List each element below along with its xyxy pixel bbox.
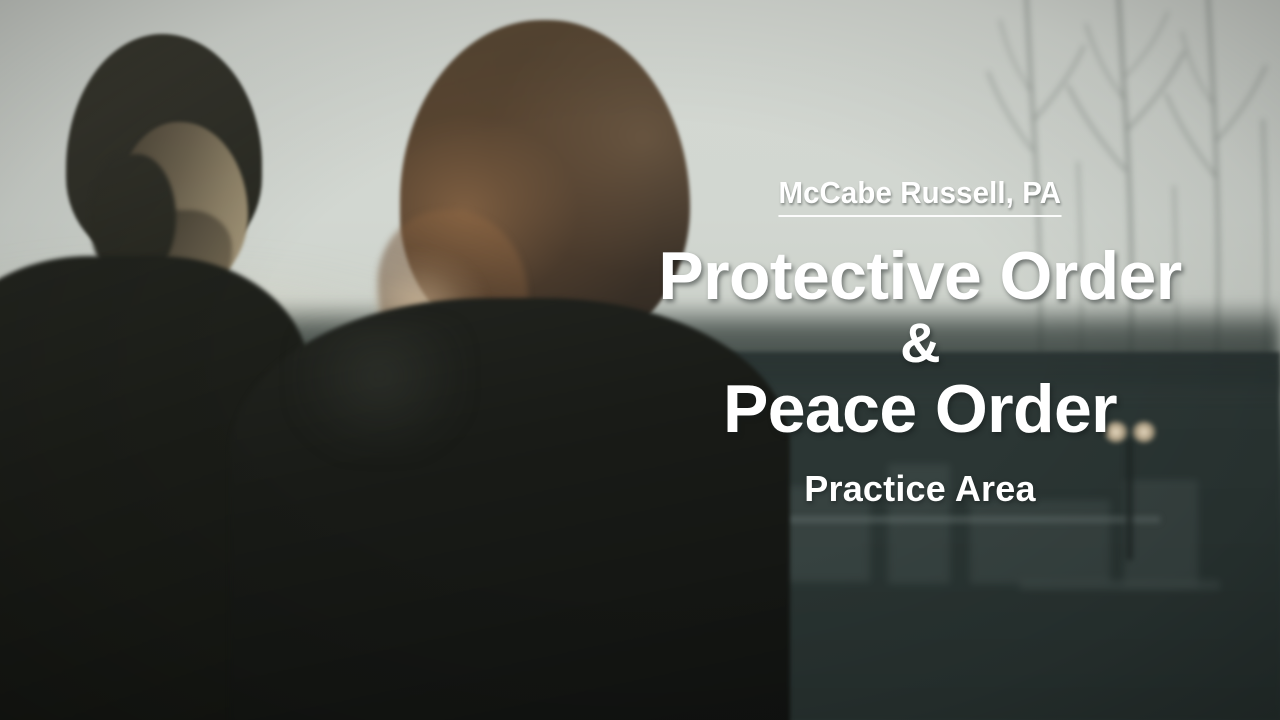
bridge-railing xyxy=(760,516,1160,523)
headline-ampersand: & xyxy=(600,310,1240,376)
back-view-shoulder-sheen xyxy=(290,320,470,460)
headline-line-1: Protective Order xyxy=(658,238,1181,314)
subtitle: Practice Area xyxy=(600,468,1240,510)
firm-name-wrapper: McCabe Russell, PA xyxy=(600,176,1240,217)
title-overlay: McCabe Russell, PA Protective Order & Pe… xyxy=(600,176,1240,510)
firm-name: McCabe Russell, PA xyxy=(779,176,1062,217)
headline-line-2: Peace Order xyxy=(600,376,1240,443)
video-thumbnail: McCabe Russell, PA Protective Order & Pe… xyxy=(0,0,1280,720)
headline: Protective Order & Peace Order xyxy=(600,243,1240,442)
